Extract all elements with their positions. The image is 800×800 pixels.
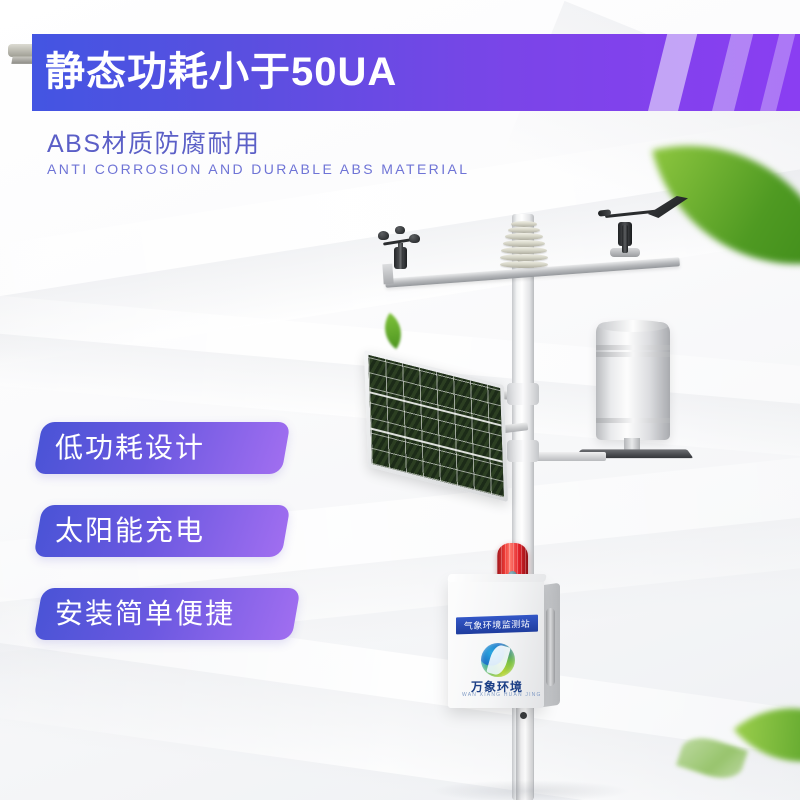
shield-plates bbox=[500, 221, 548, 265]
feature-badge-1-label: 低功耗设计 bbox=[55, 422, 205, 474]
enclosure-top bbox=[447, 574, 546, 582]
banner-stripe bbox=[640, 34, 702, 111]
enclosure-name-plate: 气象环境监测站 bbox=[456, 615, 538, 635]
anemometer-shaft bbox=[398, 243, 403, 269]
headline-title: 静态功耗小于50UA bbox=[45, 50, 397, 95]
pole-clamp-upper bbox=[507, 383, 539, 405]
enclosure-name-plate-text: 气象环境监测站 bbox=[464, 617, 531, 632]
poster-canvas: 气象环境监测站 万象环境 WAN XIANG HUAN JING 静态功耗小于5… bbox=[0, 0, 800, 800]
subtitle-english: ANTI CORROSION AND DURABLE ABS MATERIAL bbox=[47, 161, 469, 177]
anemometer-cup bbox=[378, 231, 389, 240]
feature-badge-2-label: 太阳能充电 bbox=[55, 505, 205, 557]
enclosure-latch bbox=[546, 608, 555, 686]
product-floor-shadow bbox=[430, 780, 630, 800]
feature-badge-3-label: 安装简单便捷 bbox=[55, 588, 235, 640]
subtitle-chinese: ABS材质防腐耐用 bbox=[47, 124, 261, 160]
pole-clamp-lower bbox=[507, 440, 539, 462]
rain-gauge-bracket bbox=[528, 452, 606, 461]
brand-name-en: WAN XIANG HUAN JING bbox=[462, 692, 532, 698]
banner-stripe bbox=[704, 34, 758, 111]
rain-gauge-ring bbox=[596, 345, 670, 350]
rain-gauge-ring bbox=[596, 352, 670, 357]
cross-arm-left-end bbox=[382, 264, 393, 285]
pole-cable-hole-lower bbox=[520, 712, 527, 719]
rain-gauge-ring bbox=[596, 418, 670, 423]
rain-gauge-funnel bbox=[598, 320, 668, 332]
banner-stripe bbox=[752, 34, 800, 111]
wind-vane-shaft bbox=[622, 225, 628, 253]
anemometer-cup bbox=[395, 226, 405, 234]
anemometer-cup bbox=[409, 234, 420, 243]
